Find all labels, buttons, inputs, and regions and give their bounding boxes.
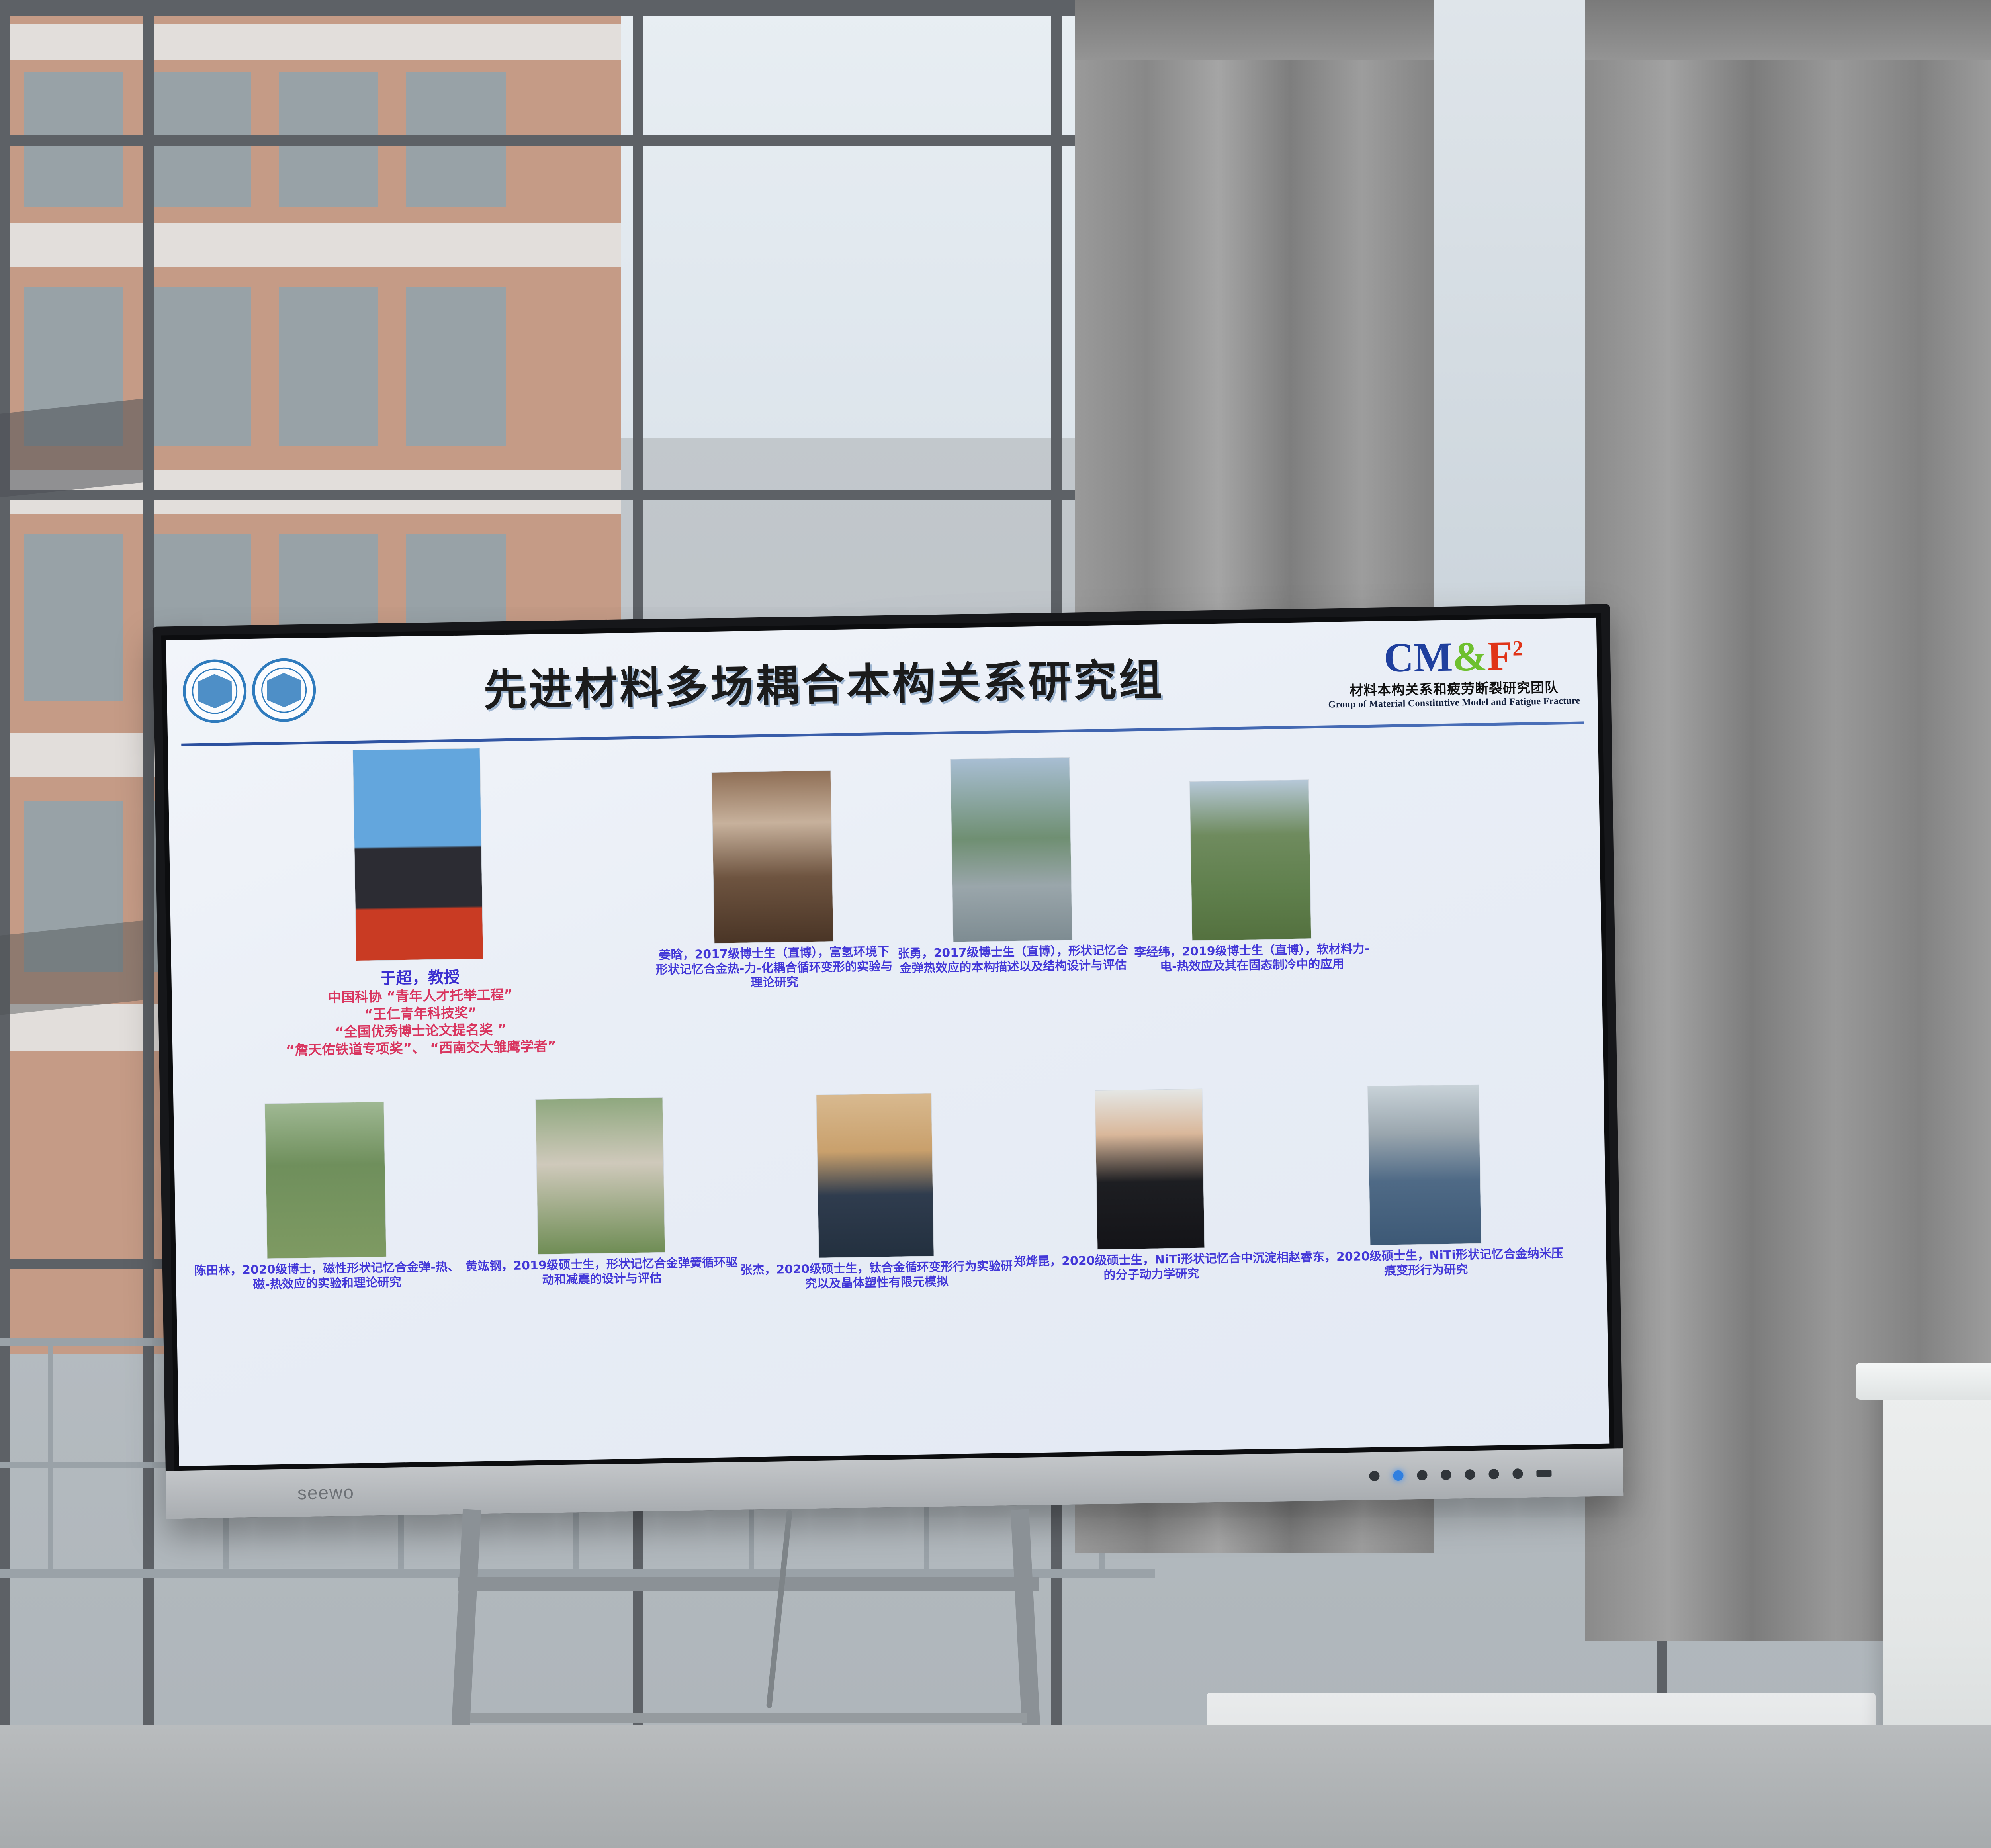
- student-photo: [264, 1102, 386, 1259]
- hopper-window-left-1: [0, 399, 143, 497]
- cmf2-cm: CM: [1383, 634, 1453, 681]
- control-button[interactable]: [1417, 1470, 1427, 1480]
- student-photo: [712, 770, 834, 944]
- school-of-mechanics-seal: [252, 658, 316, 722]
- student-caption: 李经纬，2019级博士生（直博），软材料力-电-热效应及其在固态制冷中的应用: [1132, 942, 1372, 975]
- tv-stand-crossbar-upper: [458, 1577, 1039, 1591]
- cmf2-superscript: 2: [1512, 636, 1524, 660]
- student-photo: [1189, 779, 1311, 941]
- professor-portrait-photo: [353, 748, 483, 961]
- member-card-student-top-3: 李经纬，2019级博士生（直博），软材料力-电-热效应及其在固态制冷中的应用: [1129, 734, 1373, 1088]
- slide-row-bottom: 陈田林，2020级博士，磁性形状记忆合金弹-热、磁-热效应的实验和理论研究 黄竑…: [173, 1083, 1608, 1408]
- student-caption: 张杰，2020级硕士生，钛合金循环变形行为实验研究以及晶体塑性有限元模拟: [739, 1259, 1014, 1292]
- member-card-student-top-2: 张勇，2017级博士生（直博），形状记忆合金弹热效应的本构描述以及结构设计与评估: [890, 738, 1134, 1092]
- student-caption: 张勇，2017级博士生（直博），形状记忆合金弹热效应的本构描述以及结构设计与评估: [893, 943, 1132, 976]
- professor-honor-4: “詹天佑铁道专项奖”、 “西南交大雏鹰学者”: [286, 1038, 556, 1059]
- professor-honor-3: “全国优秀博士论文提名奖 ”: [335, 1021, 507, 1041]
- student-photo: [816, 1093, 934, 1258]
- presentation-room-scene: 先进材料多场耦合本构关系研究组 CM&F2 材料本构关系和疲劳断裂研究团队 Gr…: [0, 0, 1991, 1848]
- tv-stand-crossbar-lower: [470, 1713, 1027, 1723]
- floor: [0, 1725, 1991, 1848]
- student-caption: 赵睿东，2020级硕士生，NiTi形状记忆合金纳米压痕变形行为研究: [1289, 1246, 1564, 1280]
- slide-row-top: 于超，教授 中国科协 “青年人才托举工程” “王仁青年科技奖” “全国优秀博士论…: [168, 730, 1604, 1103]
- control-button[interactable]: [1369, 1471, 1379, 1481]
- hopper-window-left-2: [0, 920, 143, 1015]
- student-caption: 陈田林，2020级博士，磁性形状记忆合金弹-热、磁-热效应的实验和理论研究: [190, 1260, 465, 1293]
- usb-port[interactable]: [1536, 1470, 1551, 1477]
- member-card-student-bottom-2: 黄竑钢，2019级硕士生，形状记忆合金弹簧循环驱动和减震的设计与评估: [462, 1096, 741, 1403]
- presentation-slide: 先进材料多场耦合本构关系研究组 CM&F2 材料本构关系和疲劳断裂研究团队 Gr…: [166, 618, 1609, 1466]
- interactive-flat-panel-display[interactable]: 先进材料多场耦合本构关系研究组 CM&F2 材料本构关系和疲劳断裂研究团队 Gr…: [153, 604, 1624, 1519]
- student-photo: [1095, 1089, 1205, 1250]
- member-card-student-bottom-4: 郑烨昆，2020级硕士生，NiTi形状记忆合中沉淀相的分子动力学研究: [1011, 1087, 1291, 1394]
- member-card-professor: 于超，教授 中国科协 “青年人才托举工程” “王仁青年科技奖” “全国优秀博士论…: [182, 745, 657, 1103]
- cmf2-f: F: [1487, 633, 1513, 679]
- control-button[interactable]: [1465, 1469, 1475, 1480]
- student-caption: 黄竑钢，2019级硕士生，形状记忆合金弹簧循环驱动和减震的设计与评估: [464, 1255, 739, 1289]
- control-button[interactable]: [1488, 1469, 1499, 1479]
- student-caption: 姜晗，2017级博士生（直博），富氢环境下形状记忆合金热-力-化耦合循环变形的实…: [654, 945, 894, 992]
- cmf2-wordmark: CM&F2: [1326, 635, 1581, 679]
- control-button[interactable]: [1512, 1468, 1523, 1479]
- student-photo: [1367, 1085, 1481, 1245]
- display-bezel: 先进材料多场耦合本构关系研究组 CM&F2 材料本构关系和疲劳断裂研究团队 Gr…: [161, 613, 1614, 1471]
- professor-name: 于超，教授: [380, 964, 460, 989]
- lectern-top-surface: [1856, 1363, 1991, 1400]
- member-card-student-top-1: 姜晗，2017级博士生（直博），富氢环境下形状记忆合金热-力-化耦合循环变形的实…: [651, 742, 896, 1096]
- cmf2-group-logo: CM&F2 材料本构关系和疲劳断裂研究团队 Group of Material …: [1326, 633, 1582, 711]
- student-photo: [950, 757, 1072, 942]
- member-card-student-bottom-5: 赵睿东，2020级硕士生，NiTi形状记忆合金纳米压痕变形行为研究: [1286, 1083, 1565, 1390]
- student-photo: [535, 1097, 665, 1255]
- professor-honor-2: “王仁青年科技奖”: [364, 1004, 477, 1024]
- professor-honor-1: 中国科协 “青年人才托举工程”: [328, 987, 513, 1007]
- display-brand-label: seewo: [297, 1481, 354, 1503]
- member-card-student-bottom-3: 张杰，2020级硕士生，钛合金循环变形行为实验研究以及晶体塑性有限元模拟: [736, 1092, 1016, 1399]
- display-control-buttons[interactable]: [1369, 1468, 1551, 1481]
- southwest-jiaotong-university-seal: [182, 659, 247, 723]
- power-indicator-led[interactable]: [1393, 1470, 1403, 1481]
- cmf2-ampersand: &: [1452, 633, 1487, 679]
- control-button[interactable]: [1441, 1470, 1451, 1480]
- member-card-student-bottom-1: 陈田林，2020级博士，磁性形状记忆合金弹-热、磁-热效应的实验和理论研究: [187, 1100, 466, 1408]
- slide-title: 先进材料多场耦合本构关系研究组: [321, 643, 1327, 721]
- student-caption: 郑烨昆，2020级硕士生，NiTi形状记忆合中沉淀相的分子动力学研究: [1014, 1251, 1289, 1284]
